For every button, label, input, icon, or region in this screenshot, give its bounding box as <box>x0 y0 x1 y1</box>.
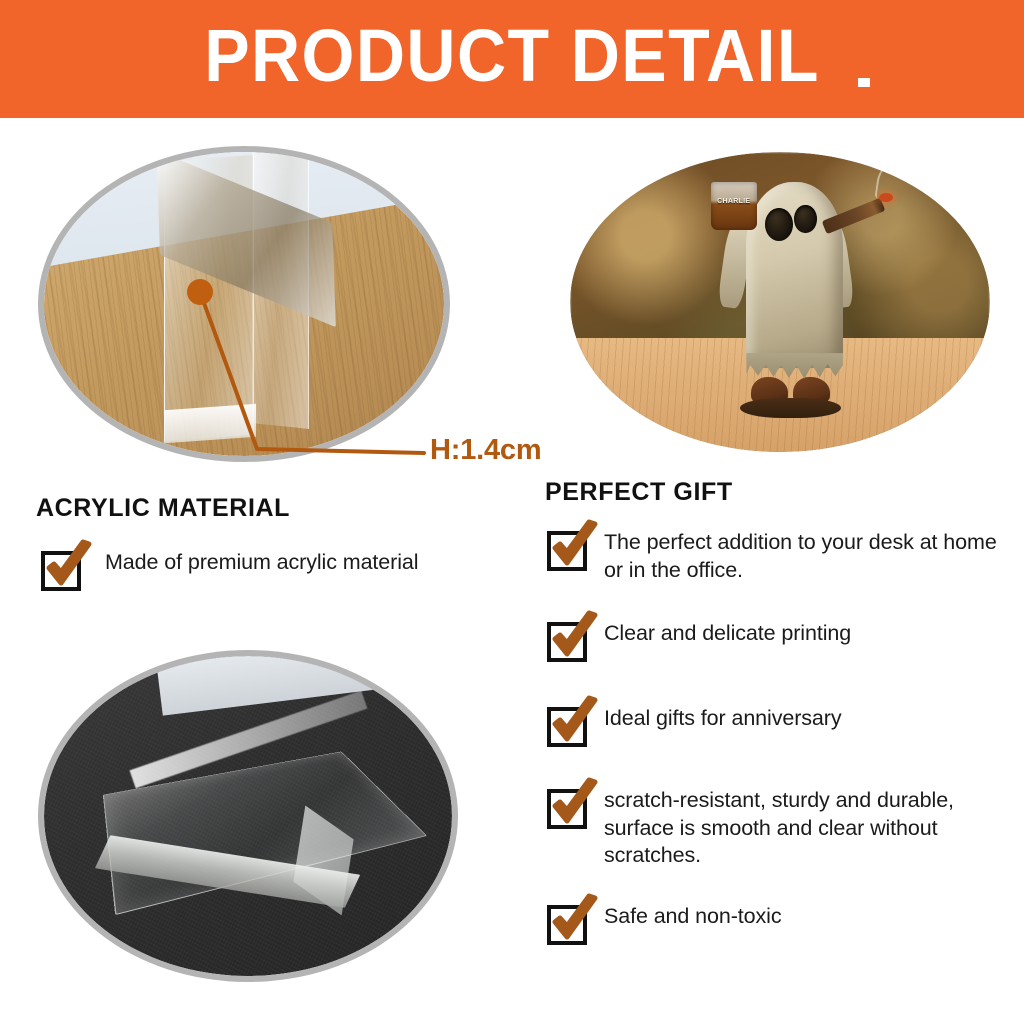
feature-text: Ideal gifts for anniversary <box>604 705 842 733</box>
feature-item: Made of premium acrylic material <box>41 549 511 591</box>
photo-acrylic-edge <box>44 152 444 456</box>
section-heading-acrylic-material: ACRYLIC MATERIAL <box>36 494 290 523</box>
feature-text: Made of premium acrylic material <box>105 549 418 577</box>
photo-ghost-figurine: CHARLIE <box>570 152 990 452</box>
photo-acrylic-block <box>44 656 452 976</box>
ghost-sheet-body <box>746 182 843 368</box>
feature-text: The perfect addition to your desk at hom… <box>604 529 1002 584</box>
photo-ghost-figurine-content: CHARLIE <box>570 152 990 452</box>
checkbox-checked-icon <box>547 905 587 945</box>
section-heading-perfect-gift: PERFECT GIFT <box>545 478 733 507</box>
feature-text: Safe and non-toxic <box>604 903 782 931</box>
ghost-right-eye <box>794 205 817 234</box>
checkbox-checked-icon <box>41 551 81 591</box>
feature-item: The perfect addition to your desk at hom… <box>547 529 1002 584</box>
photo-acrylic-edge-content <box>44 152 444 456</box>
page-header-banner: PRODUCT DETAIL <box>0 0 1024 118</box>
figurine-base-stand <box>740 398 841 418</box>
banner-notch <box>858 78 870 87</box>
feature-item: scratch-resistant, sturdy and durable, s… <box>547 787 997 870</box>
whiskey-glass: CHARLIE <box>711 182 757 230</box>
page-title: PRODUCT DETAIL <box>41 0 983 118</box>
checkbox-checked-icon <box>547 707 587 747</box>
acrylic-base-highlight <box>164 404 256 444</box>
checkbox-checked-icon <box>547 531 587 571</box>
feature-text: Clear and delicate printing <box>604 620 851 648</box>
feature-item: Ideal gifts for anniversary <box>547 705 987 747</box>
callout-label: H:1.4cm <box>430 434 541 467</box>
feature-item: Clear and delicate printing <box>547 620 987 662</box>
whiskey-glass-name-label: CHARLIE <box>711 198 757 205</box>
feature-text: scratch-resistant, sturdy and durable, s… <box>604 787 997 870</box>
ghost-left-eye <box>765 208 793 241</box>
checkbox-checked-icon <box>547 789 587 829</box>
feature-item: Safe and non-toxic <box>547 903 987 945</box>
photo-acrylic-block-content <box>44 656 452 976</box>
checkbox-checked-icon <box>547 622 587 662</box>
